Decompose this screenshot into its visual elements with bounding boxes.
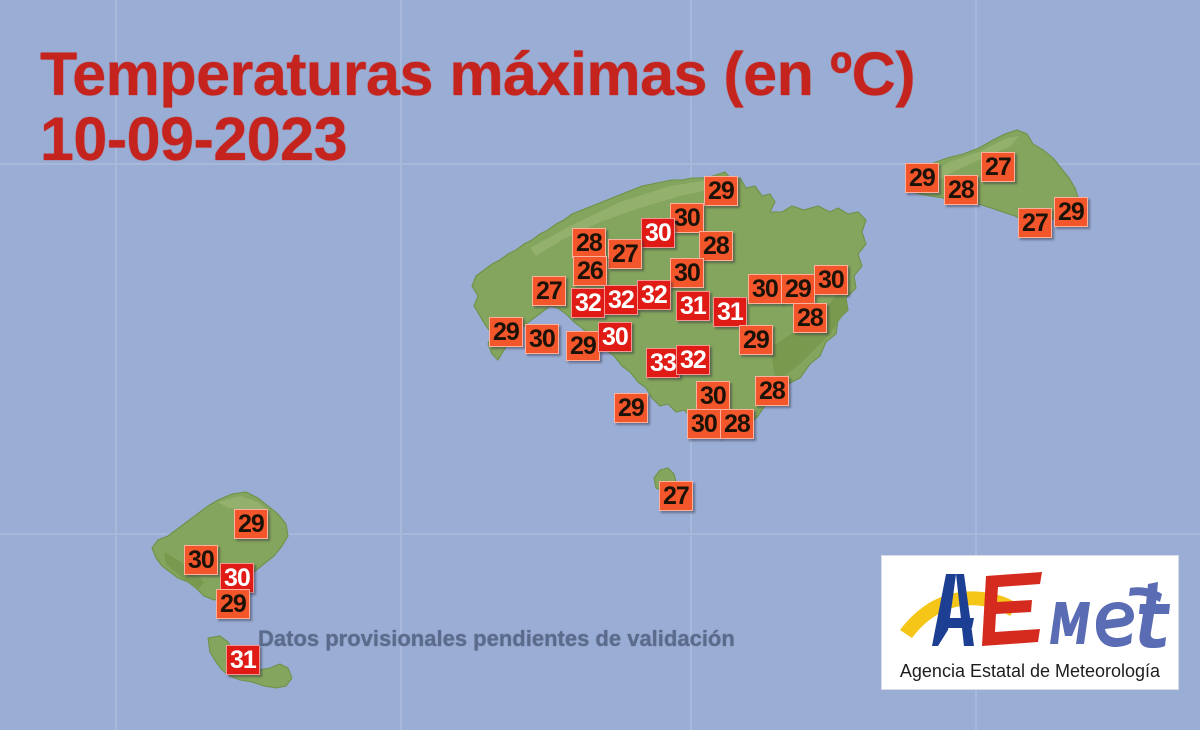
temperature-marker: 28 xyxy=(793,303,827,333)
temperature-marker: 29 xyxy=(1054,197,1088,227)
temperature-marker: 28 xyxy=(944,175,978,205)
page-title: Temperaturas máximas (en ºC)10-09-2023 xyxy=(40,42,915,171)
temperature-marker: 32 xyxy=(604,285,638,315)
temperature-marker: 28 xyxy=(699,231,733,261)
temperature-marker: 29 xyxy=(566,331,600,361)
weather-map: 2930302828272630273232323131302930282930… xyxy=(0,0,1200,730)
temperature-marker: 30 xyxy=(814,265,848,295)
temperature-marker: 27 xyxy=(532,276,566,306)
temperature-marker: 29 xyxy=(216,589,250,619)
temperature-marker: 32 xyxy=(637,280,671,310)
temperature-marker: 30 xyxy=(748,274,782,304)
title-line-1: Temperaturas máximas (en ºC) xyxy=(40,40,915,108)
temperature-marker: 30 xyxy=(687,409,721,439)
temperature-marker: 31 xyxy=(676,291,710,321)
temperature-marker: 28 xyxy=(755,376,789,406)
temperature-marker: 29 xyxy=(781,274,815,304)
provisional-data-note: Datos provisionales pendientes de valida… xyxy=(258,626,735,652)
temperature-marker: 30 xyxy=(696,381,730,411)
temperature-marker: 27 xyxy=(981,152,1015,182)
temperature-marker: 30 xyxy=(598,322,632,352)
temperature-marker: 26 xyxy=(573,256,607,286)
temperature-marker: 29 xyxy=(234,509,268,539)
temperature-marker: 30 xyxy=(670,258,704,288)
aemet-tagline: Agencia Estatal de Meteorología xyxy=(882,661,1178,682)
temperature-marker: 29 xyxy=(704,176,738,206)
temperature-marker: 28 xyxy=(572,228,606,258)
temperature-marker: 29 xyxy=(739,325,773,355)
temperature-marker: 30 xyxy=(184,545,218,575)
temperature-marker: 30 xyxy=(641,218,675,248)
temperature-marker: 28 xyxy=(720,409,754,439)
temperature-marker: 31 xyxy=(713,297,747,327)
temperature-marker: 27 xyxy=(608,239,642,269)
temperature-marker: 30 xyxy=(525,324,559,354)
temperature-marker: 32 xyxy=(571,288,605,318)
title-line-2: 10-09-2023 xyxy=(40,107,915,172)
temperature-marker: 32 xyxy=(676,345,710,375)
aemet-logo: Agencia Estatal de Meteorología xyxy=(882,556,1178,689)
temperature-marker: 33 xyxy=(646,348,680,378)
temperature-marker: 27 xyxy=(659,481,693,511)
temperature-marker: 30 xyxy=(670,203,704,233)
temperature-marker: 29 xyxy=(614,393,648,423)
temperature-marker: 27 xyxy=(1018,208,1052,238)
temperature-marker: 31 xyxy=(226,645,260,675)
aemet-wordmark-icon xyxy=(882,558,1178,654)
temperature-marker: 29 xyxy=(489,317,523,347)
